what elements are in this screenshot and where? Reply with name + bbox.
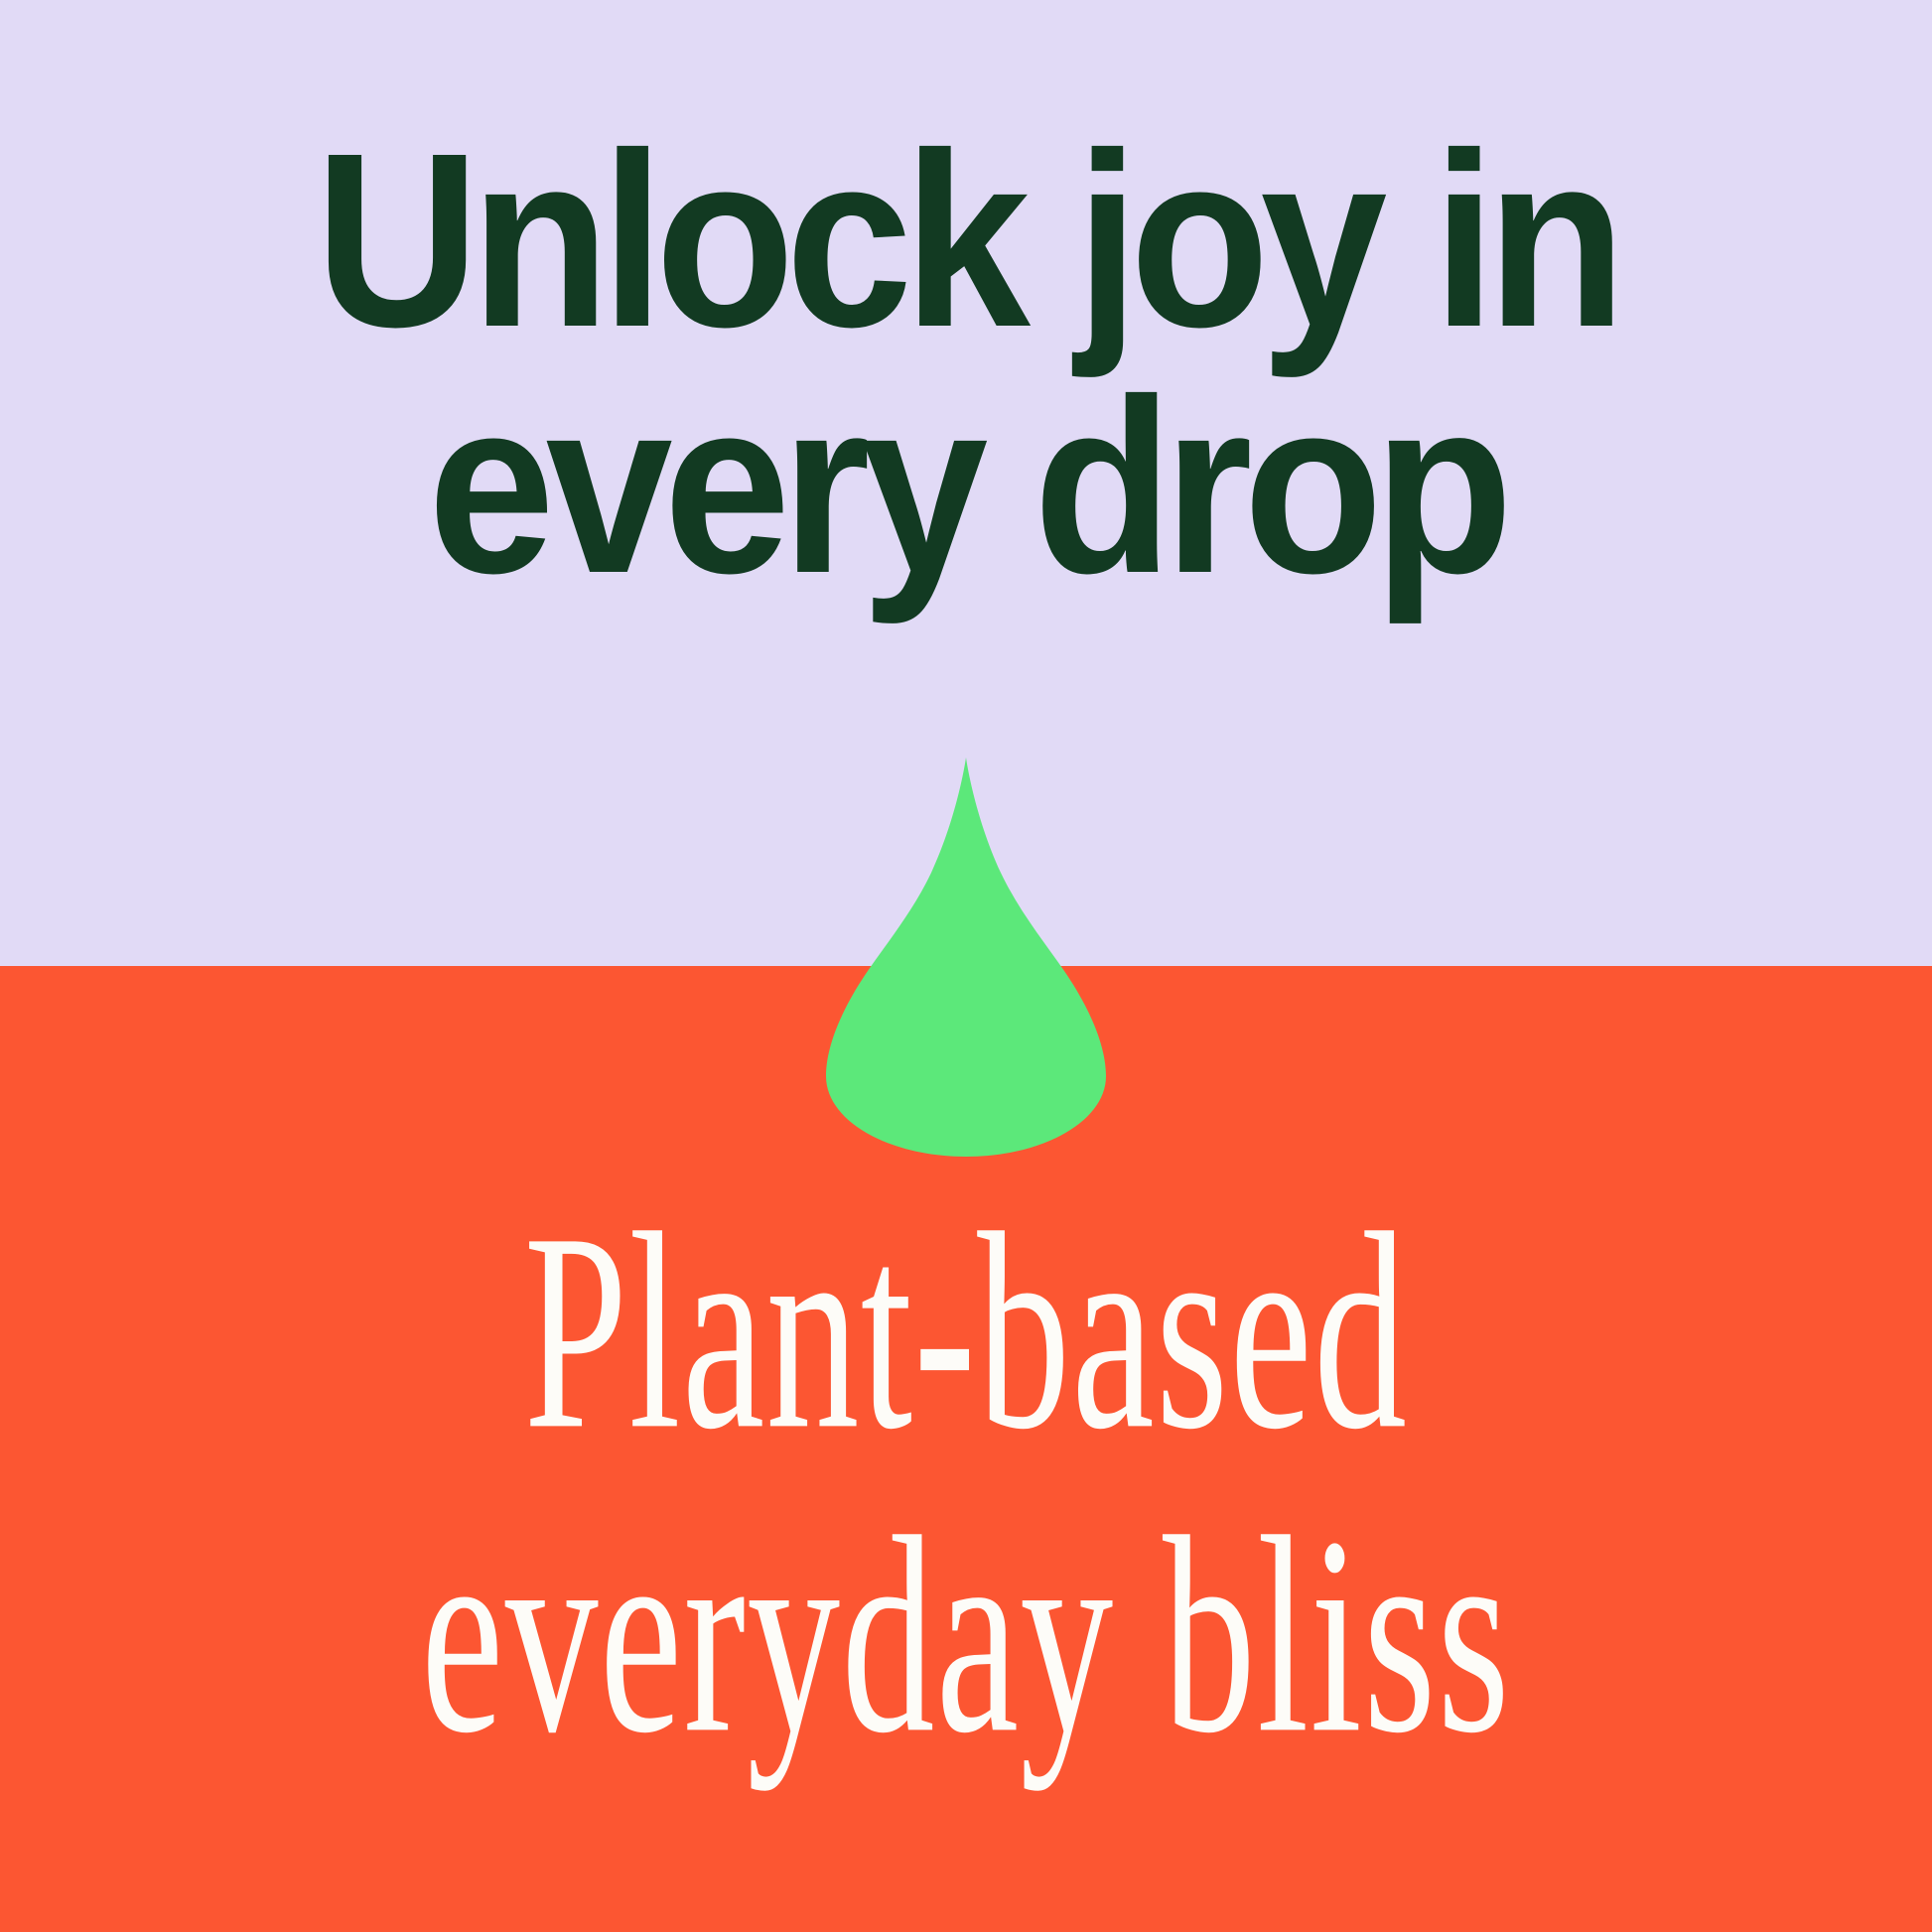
headline-line-2: every drop xyxy=(77,363,1855,610)
poster-canvas: Unlock joy in every drop Plant-based eve… xyxy=(0,0,1932,1932)
water-droplet-icon xyxy=(826,758,1106,1157)
subhead-line-1: Plant-based xyxy=(290,1171,1642,1492)
headline-block: Unlock joy in every drop xyxy=(0,0,1932,609)
subhead-line-2: everyday bliss xyxy=(290,1473,1642,1795)
subhead-block: Plant-based everyday bliss xyxy=(0,1179,1932,1786)
water-droplet-svg xyxy=(826,758,1106,1157)
headline-line-1: Unlock joy in xyxy=(77,117,1855,363)
